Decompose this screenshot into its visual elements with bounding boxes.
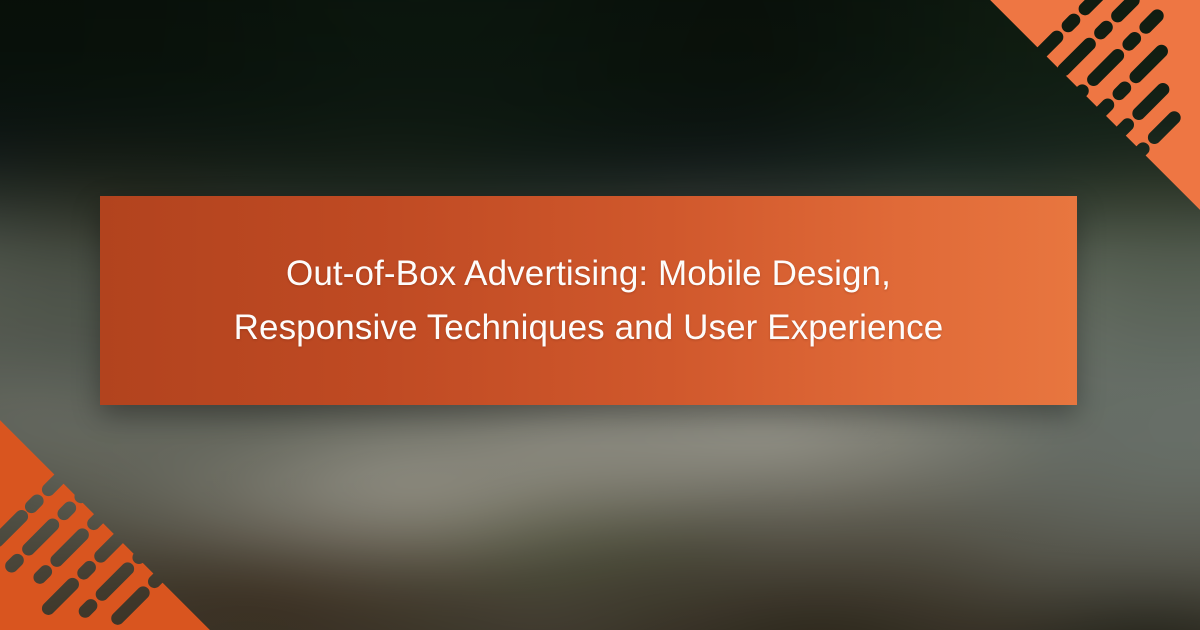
page-title-line-2: Responsive Techniques and User Experienc… [234,301,944,354]
title-card: Out-of-Box Advertising: Mobile Design, R… [100,196,1077,405]
page-title-line-1: Out-of-Box Advertising: Mobile Design, [234,247,944,300]
page-title: Out-of-Box Advertising: Mobile Design, R… [234,247,944,353]
share-card-canvas: Out-of-Box Advertising: Mobile Design, R… [0,0,1200,630]
